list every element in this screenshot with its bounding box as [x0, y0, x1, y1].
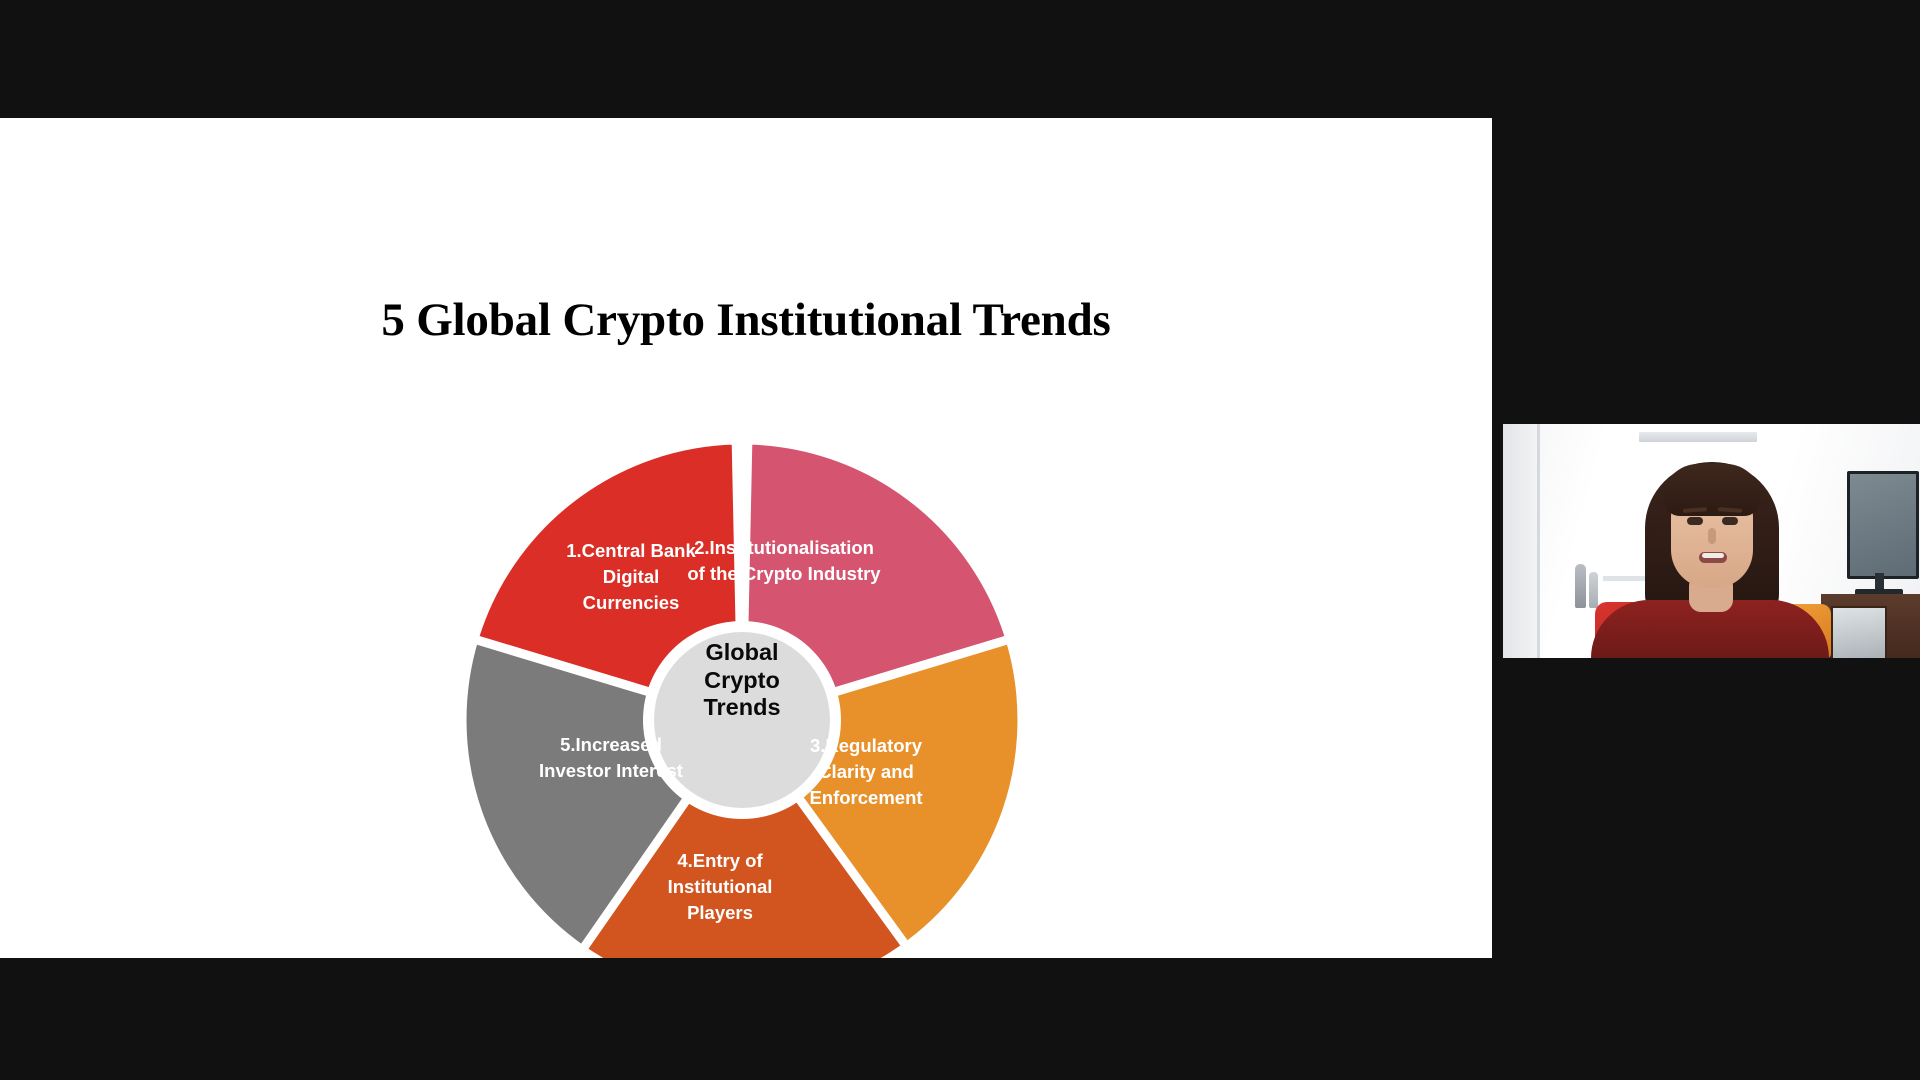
presentation-slide: 5 Global Crypto Institutional Trends 1.C…: [0, 118, 1492, 958]
wheel-center-circle: [654, 632, 830, 808]
person-teeth: [1702, 553, 1724, 558]
participant-video-tile[interactable]: [1503, 424, 1920, 658]
monitor-icon: [1847, 471, 1919, 579]
person-hair-front: [1663, 464, 1761, 516]
video-scene: [1503, 424, 1920, 658]
wheel-svg: [452, 430, 1032, 958]
bottle-object: [1575, 564, 1586, 608]
person-nose: [1708, 528, 1716, 544]
cabinet-door: [1831, 606, 1887, 658]
wall-edge: [1537, 424, 1540, 658]
crypto-trends-wheel-diagram: 1.Central Bank Digital Currencies 2.Inst…: [452, 430, 1032, 958]
bottle-object-secondary: [1589, 572, 1598, 608]
person-eye-left: [1687, 517, 1703, 525]
person-eye-right: [1722, 517, 1738, 525]
slide-title: 5 Global Crypto Institutional Trends: [0, 293, 1492, 347]
wall-panel: [1503, 424, 1537, 658]
window-blind: [1639, 432, 1757, 442]
